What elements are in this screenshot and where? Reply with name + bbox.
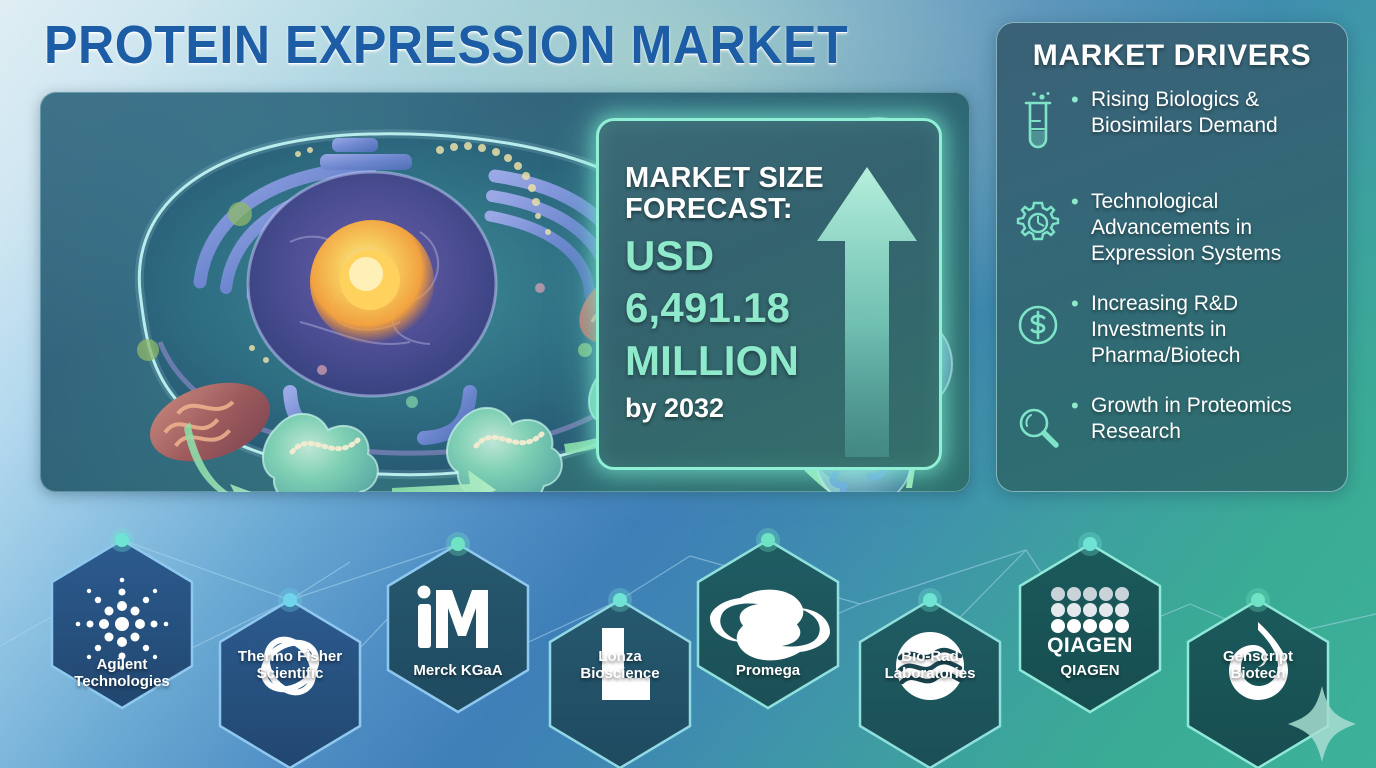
driver-text: Rising Biologics & Biosimilars Demand bbox=[1091, 87, 1333, 139]
qiagen-dots-icon: QIAGEN bbox=[1047, 587, 1133, 657]
company-label: Merck KGaA bbox=[383, 662, 533, 679]
company-label: Thermo FisherScientific bbox=[215, 648, 365, 682]
driver-item: • Increasing R&D Investments in Pharma/B… bbox=[1011, 291, 1333, 377]
market-size-text: MARKET SIZE FORECAST: USD 6,491.18 MILLI… bbox=[625, 163, 871, 424]
bullet-dot: • bbox=[1071, 291, 1085, 317]
driver-item: • Growth in Proteomics Research bbox=[1011, 393, 1333, 479]
driver-text: Increasing R&D Investments in Pharma/Bio… bbox=[1091, 291, 1333, 369]
bullet-dot: • bbox=[1071, 189, 1085, 215]
forecast-value-currency: USD bbox=[625, 234, 871, 279]
company-label: Promega bbox=[693, 662, 843, 679]
forecast-heading-line2: FORECAST: bbox=[625, 194, 871, 225]
company-hexagon[interactable] bbox=[698, 528, 838, 708]
drivers-title: MARKET DRIVERS bbox=[1011, 39, 1333, 73]
driver-item: • Rising Biologics & Biosimilars Demand bbox=[1011, 87, 1333, 173]
magnifier-icon bbox=[1011, 393, 1065, 457]
bullet-dot: • bbox=[1071, 87, 1085, 113]
infographic-canvas: PROTEIN EXPRESSION MARKET bbox=[0, 0, 1376, 768]
driver-text: Growth in Proteomics Research bbox=[1091, 393, 1333, 445]
forecast-year: by 2032 bbox=[625, 393, 871, 424]
dollar-circle-icon bbox=[1011, 291, 1065, 355]
company-hexagon-row: QIAGEN AgilentTechnologies Thermo Fisher… bbox=[0, 496, 1376, 768]
driver-item: • Technological Advancements in Expressi… bbox=[1011, 189, 1333, 275]
test-tube-icon bbox=[1011, 87, 1065, 151]
company-label: GenscriptBiotech bbox=[1183, 648, 1333, 682]
company-label: Bio-RadLaboratories bbox=[855, 648, 1005, 682]
company-label: AgilentTechnologies bbox=[47, 656, 197, 690]
company-hexagon[interactable] bbox=[388, 532, 528, 712]
company-label: QIAGEN bbox=[1015, 662, 1165, 679]
bullet-dot: • bbox=[1071, 393, 1085, 419]
company-label: LonzaBioscience bbox=[545, 648, 695, 682]
forecast-heading-line1: MARKET SIZE bbox=[625, 163, 871, 194]
company-hexagon[interactable]: QIAGEN bbox=[1020, 532, 1160, 712]
gear-icon bbox=[1011, 189, 1065, 253]
page-title: PROTEIN EXPRESSION MARKET bbox=[44, 14, 848, 76]
hexagon-network-svg: QIAGEN bbox=[0, 496, 1376, 768]
driver-text: Technological Advancements in Expression… bbox=[1091, 189, 1333, 267]
forecast-value-unit: MILLION bbox=[625, 339, 871, 384]
forecast-value-number: 6,491.18 bbox=[625, 286, 871, 331]
market-size-forecast-box: MARKET SIZE FORECAST: USD 6,491.18 MILLI… bbox=[596, 118, 942, 470]
svg-text:QIAGEN: QIAGEN bbox=[1047, 634, 1133, 657]
market-drivers-panel: MARKET DRIVERS • Rising Biologic bbox=[996, 22, 1348, 492]
